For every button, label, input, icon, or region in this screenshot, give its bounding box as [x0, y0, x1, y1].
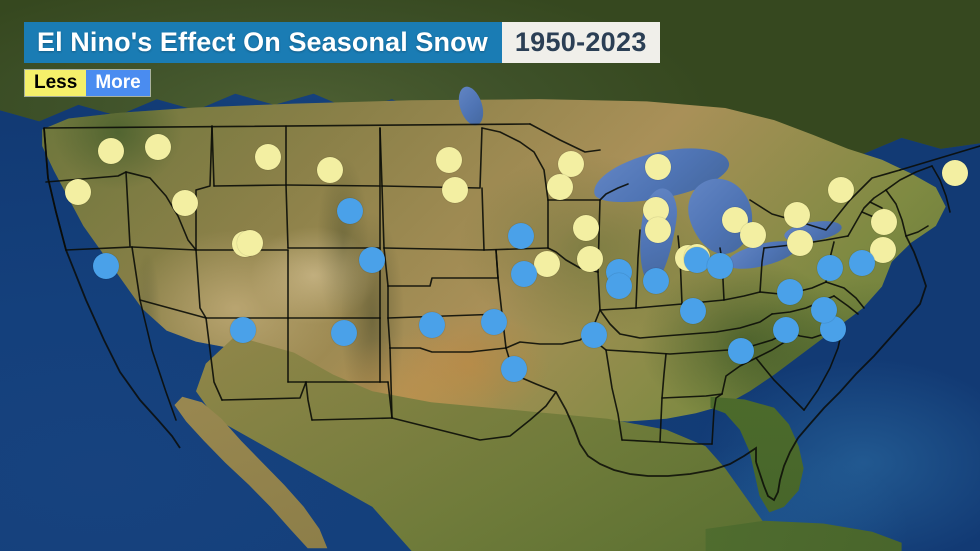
- snow-dot-more: [511, 261, 537, 287]
- snow-dot-less: [547, 174, 573, 200]
- legend-item-less: Less: [25, 70, 86, 96]
- snow-dot-less: [740, 222, 766, 248]
- snow-dot-more: [337, 198, 363, 224]
- snow-dot-less: [442, 177, 468, 203]
- snow-dot-more: [359, 247, 385, 273]
- snow-dot-more: [811, 297, 837, 323]
- snow-dot-less: [784, 202, 810, 228]
- snow-dot-less: [317, 157, 343, 183]
- snow-dot-less: [942, 160, 968, 186]
- snow-dot-more: [773, 317, 799, 343]
- snow-dot-less: [645, 217, 671, 243]
- snow-dot-more: [817, 255, 843, 281]
- date-range-badge: 1950-2023: [502, 22, 660, 63]
- snow-dot-less: [871, 209, 897, 235]
- snow-dot-more: [684, 247, 710, 273]
- snow-dot-less: [573, 215, 599, 241]
- snow-dot-more: [501, 356, 527, 382]
- legend-item-more: More: [86, 70, 149, 96]
- snow-dot-more: [419, 312, 445, 338]
- snow-dot-more: [508, 223, 534, 249]
- snow-dot-less: [98, 138, 124, 164]
- snow-dot-less: [645, 154, 671, 180]
- snow-dot-more: [93, 253, 119, 279]
- snow-dot-more: [331, 320, 357, 346]
- snow-dot-more: [777, 279, 803, 305]
- snow-dot-less: [577, 246, 603, 272]
- snow-dot-more: [643, 268, 669, 294]
- weather-map-graphic: El Nino's Effect On Seasonal Snow 1950-2…: [0, 0, 980, 551]
- snow-dot-less: [787, 230, 813, 256]
- snow-dot-less: [255, 144, 281, 170]
- legend: Less More: [24, 69, 151, 97]
- snow-dot-less: [237, 230, 263, 256]
- snow-dot-less: [828, 177, 854, 203]
- snow-dot-more: [680, 298, 706, 324]
- snow-dot-more: [230, 317, 256, 343]
- page-title: El Nino's Effect On Seasonal Snow: [24, 22, 502, 63]
- snow-dot-less: [172, 190, 198, 216]
- snow-dot-more: [606, 273, 632, 299]
- snow-dot-less: [558, 151, 584, 177]
- snow-dot-more: [707, 253, 733, 279]
- snow-dot-less: [145, 134, 171, 160]
- snow-dot-less: [534, 251, 560, 277]
- snow-dot-more: [849, 250, 875, 276]
- snow-dot-less: [436, 147, 462, 173]
- snow-dot-more: [481, 309, 507, 335]
- snow-dot-more: [728, 338, 754, 364]
- title-row: El Nino's Effect On Seasonal Snow 1950-2…: [24, 22, 660, 63]
- snow-dot-more: [581, 322, 607, 348]
- snow-dot-less: [65, 179, 91, 205]
